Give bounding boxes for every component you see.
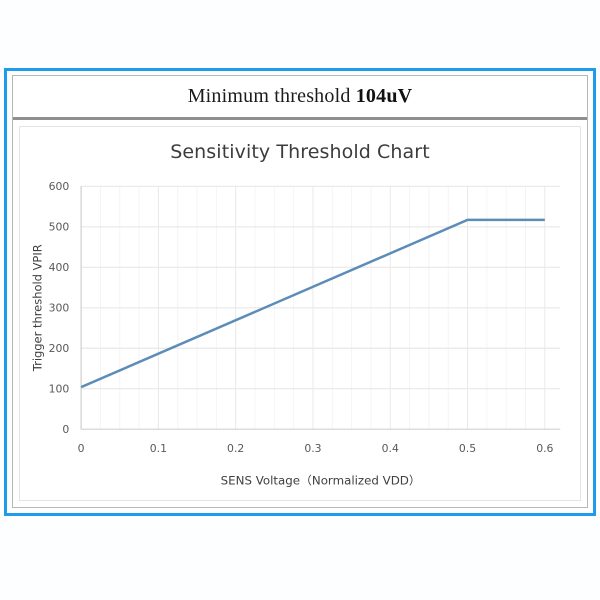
- svg-text:100: 100: [49, 383, 70, 396]
- minimum-threshold-text: Minimum threshold: [188, 85, 356, 107]
- chart-panel: Sensitivity Threshold Chart 00.10.20.30.…: [19, 126, 581, 501]
- y-axis-tick-labels: 0100200300400500600: [49, 180, 70, 436]
- svg-text:0: 0: [78, 442, 85, 455]
- svg-text:0.3: 0.3: [304, 442, 321, 455]
- chart-card: Minimum threshold 104uV Sensitivity Thre…: [4, 68, 596, 516]
- svg-text:0.6: 0.6: [536, 442, 553, 455]
- card-header: Minimum threshold 104uV: [13, 76, 587, 120]
- svg-text:0: 0: [62, 423, 69, 436]
- major-horizontal-gridlines: [81, 186, 560, 388]
- minimum-threshold-label: Minimum threshold 104uV: [188, 85, 413, 108]
- svg-text:300: 300: [49, 302, 70, 315]
- y-axis-title: Trigger threshold VPIR: [31, 244, 45, 372]
- svg-text:400: 400: [49, 261, 70, 274]
- minimum-threshold-value: 104uV: [356, 85, 413, 107]
- sensitivity-threshold-chart: 00.10.20.30.40.50.6 0100200300400500600 …: [20, 127, 580, 500]
- x-axis-tick-labels: 00.10.20.30.40.50.6: [78, 442, 554, 455]
- chart-card-inner: Minimum threshold 104uV Sensitivity Thre…: [12, 75, 588, 508]
- svg-text:0.5: 0.5: [459, 442, 476, 455]
- svg-text:0.1: 0.1: [150, 442, 167, 455]
- screenshot-root: Minimum threshold 104uV Sensitivity Thre…: [0, 0, 600, 600]
- svg-text:600: 600: [49, 180, 70, 193]
- svg-text:200: 200: [49, 342, 70, 355]
- svg-text:0.2: 0.2: [227, 442, 244, 455]
- x-axis-title: SENS Voltage（Normalized VDD）: [221, 474, 421, 488]
- svg-text:0.4: 0.4: [382, 442, 399, 455]
- svg-text:500: 500: [49, 221, 70, 234]
